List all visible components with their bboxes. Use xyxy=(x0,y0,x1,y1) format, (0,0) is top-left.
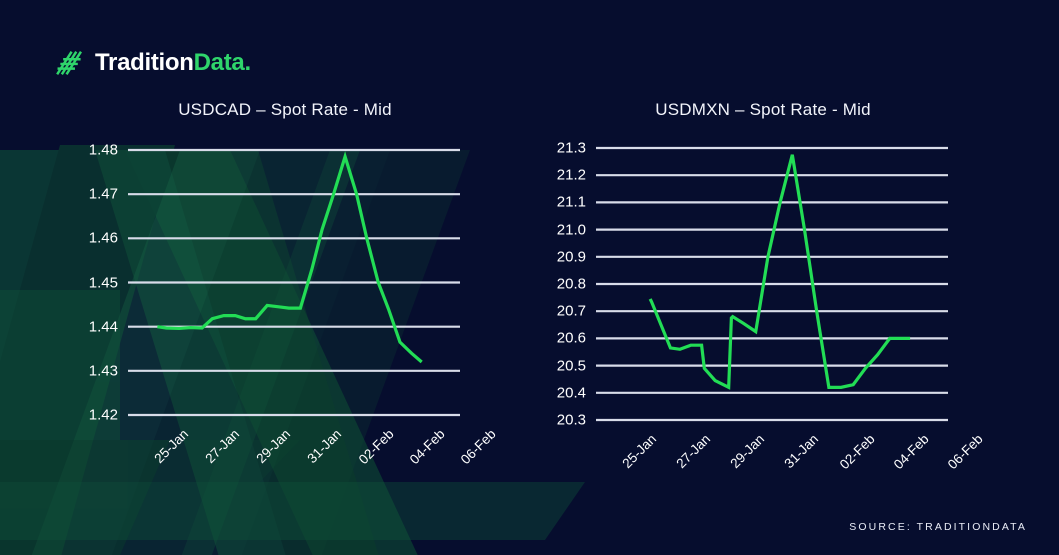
y-axis-tick: 21.1 xyxy=(557,195,586,210)
chart-title-usdcad: USDCAD – Spot Rate - Mid xyxy=(60,100,510,120)
brand-logo: TraditionData. xyxy=(55,48,251,78)
series-line-usdmxn xyxy=(650,155,910,388)
y-axis-tick: 21.2 xyxy=(557,168,586,183)
y-axis-tick: 20.6 xyxy=(557,331,586,346)
plot-area-usdmxn: 21.321.221.121.020.920.820.720.620.520.4… xyxy=(528,128,948,428)
brand-name-secondary: Data. xyxy=(194,49,251,76)
y-axis-tick: 1.42 xyxy=(89,408,118,423)
x-axis-tick: 06-Feb xyxy=(945,432,985,472)
x-axis-tick: 02-Feb xyxy=(357,427,397,467)
series-line-usdcad xyxy=(157,157,421,362)
x-axis-tick: 04-Feb xyxy=(408,427,448,467)
infographic-canvas: TraditionData. USDCAD – Spot Rate - Mid … xyxy=(0,0,1059,555)
x-axis-tick: 27-Jan xyxy=(674,432,713,471)
x-axis-tick: 31-Jan xyxy=(783,432,822,471)
y-axis-tick: 1.47 xyxy=(89,187,118,202)
y-axis-tick: 1.44 xyxy=(89,319,118,334)
y-axis-labels-usdcad: 1.481.471.461.451.441.431.42 xyxy=(60,128,118,428)
y-axis-tick: 1.45 xyxy=(89,275,118,290)
y-axis-tick: 1.48 xyxy=(89,143,118,158)
brand-name-primary: Tradition xyxy=(95,49,194,76)
brand-wordmark: TraditionData. xyxy=(95,51,251,75)
y-axis-tick: 21.0 xyxy=(557,222,586,237)
y-axis-tick: 20.3 xyxy=(557,413,586,428)
y-axis-tick: 20.8 xyxy=(557,277,586,292)
x-axis-tick: 25-Jan xyxy=(620,432,659,471)
x-axis-tick: 31-Jan xyxy=(305,427,344,466)
plot-svg-usdcad xyxy=(60,128,460,428)
plot-area-usdcad: 1.481.471.461.451.441.431.4225-Jan27-Jan… xyxy=(60,128,460,428)
plot-svg-usdmxn xyxy=(528,128,948,428)
x-axis-tick: 06-Feb xyxy=(459,427,499,467)
y-axis-tick: 20.4 xyxy=(557,385,586,400)
x-axis-tick: 27-Jan xyxy=(203,427,242,466)
x-axis-tick: 29-Jan xyxy=(254,427,293,466)
y-axis-labels-usdmxn: 21.321.221.121.020.920.820.720.620.520.4… xyxy=(528,128,586,428)
tradition-chevron-logo-icon xyxy=(55,48,85,78)
x-axis-tick: 29-Jan xyxy=(728,432,767,471)
x-axis-tick: 25-Jan xyxy=(152,427,191,466)
chart-usdmxn: USDMXN – Spot Rate - Mid 21.321.221.121.… xyxy=(528,100,998,500)
y-axis-tick: 1.46 xyxy=(89,231,118,246)
y-axis-tick: 1.43 xyxy=(89,363,118,378)
y-axis-tick: 20.9 xyxy=(557,249,586,264)
chart-usdcad: USDCAD – Spot Rate - Mid 1.481.471.461.4… xyxy=(60,100,510,500)
y-axis-tick: 20.7 xyxy=(557,304,586,319)
x-axis-tick: 02-Feb xyxy=(837,432,877,472)
y-axis-tick: 21.3 xyxy=(557,141,586,156)
source-attribution: SOURCE: TRADITIONDATA xyxy=(849,521,1027,533)
chart-title-usdmxn: USDMXN – Spot Rate - Mid xyxy=(528,100,998,120)
x-axis-tick: 04-Feb xyxy=(891,432,931,472)
y-axis-tick: 20.5 xyxy=(557,358,586,373)
